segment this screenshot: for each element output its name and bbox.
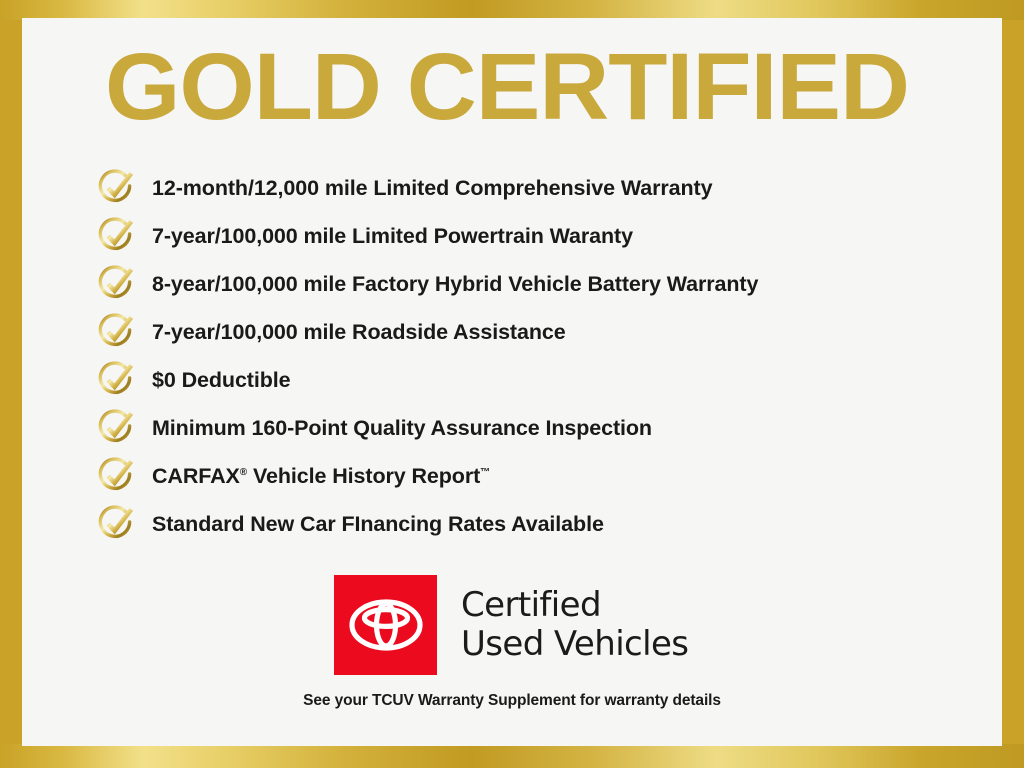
certificate-card: GOLD CERTIFIED 12-month/12,000 mile Limi… <box>22 18 1002 746</box>
gold-check-icon <box>96 215 138 257</box>
frame-border-bottom <box>0 744 1024 768</box>
lockup-line-1: Certified <box>461 586 688 625</box>
benefit-row: Standard New Car FInancing Rates Availab… <box>96 500 976 548</box>
benefit-row: 7-year/100,000 mile Limited Powertrain W… <box>96 212 976 260</box>
benefit-row: $0 Deductible <box>96 356 976 404</box>
registered-mark: ® <box>240 466 247 477</box>
benefit-label: CARFAX® Vehicle History Report™ <box>152 464 490 489</box>
benefit-label: Minimum 160-Point Quality Assurance Insp… <box>152 416 652 441</box>
toyota-certified-used-vehicles-lockup: Certified Used Vehicles <box>334 575 688 675</box>
trademark-mark: ™ <box>480 466 490 477</box>
frame-border-top <box>0 0 1024 20</box>
benefits-list: 12-month/12,000 mile Limited Comprehensi… <box>96 164 976 548</box>
benefit-row: 8-year/100,000 mile Factory Hybrid Vehic… <box>96 260 976 308</box>
benefit-row: 12-month/12,000 mile Limited Comprehensi… <box>96 164 976 212</box>
benefit-label: 8-year/100,000 mile Factory Hybrid Vehic… <box>152 272 758 297</box>
lockup-line-2: Used Vehicles <box>461 625 688 664</box>
frame-border-right <box>1000 0 1024 768</box>
gold-check-icon <box>96 503 138 545</box>
frame-border-left <box>0 0 24 768</box>
benefit-row: 7-year/100,000 mile Roadside Assistance <box>96 308 976 356</box>
gold-check-icon <box>96 263 138 305</box>
gold-certified-certificate: GOLD CERTIFIED 12-month/12,000 mile Limi… <box>0 0 1024 768</box>
gold-check-icon <box>96 407 138 449</box>
benefit-label: Standard New Car FInancing Rates Availab… <box>152 512 604 537</box>
benefit-row: CARFAX® Vehicle History Report™ <box>96 452 976 500</box>
lockup-wordmark: Certified Used Vehicles <box>461 586 688 665</box>
benefit-label: $0 Deductible <box>152 368 291 393</box>
page-title: GOLD CERTIFIED <box>105 40 909 135</box>
gold-check-icon <box>96 455 138 497</box>
warranty-disclaimer: See your TCUV Warranty Supplement for wa… <box>22 692 1002 710</box>
gold-check-icon <box>96 359 138 401</box>
benefit-label: 7-year/100,000 mile Limited Powertrain W… <box>152 224 633 249</box>
benefit-row: Minimum 160-Point Quality Assurance Insp… <box>96 404 976 452</box>
gold-check-icon <box>96 167 138 209</box>
benefit-label: 12-month/12,000 mile Limited Comprehensi… <box>152 176 712 201</box>
gold-check-icon <box>96 311 138 353</box>
benefit-label: 7-year/100,000 mile Roadside Assistance <box>152 320 566 345</box>
toyota-logo-tile <box>334 575 437 675</box>
toyota-emblem-icon <box>349 599 423 651</box>
